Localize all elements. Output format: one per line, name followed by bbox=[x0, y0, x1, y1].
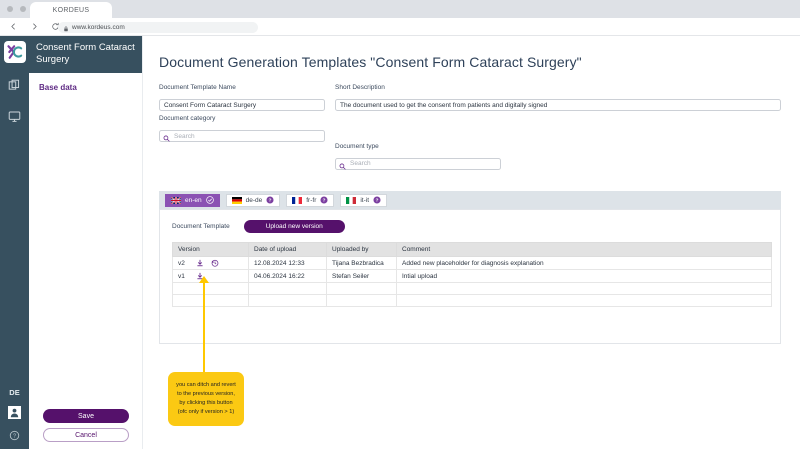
copy-icon[interactable] bbox=[6, 77, 23, 94]
cell-version bbox=[173, 295, 249, 307]
document-category-input[interactable] bbox=[159, 130, 325, 142]
forward-arrow-icon[interactable] bbox=[26, 19, 42, 35]
field-document-type: Document type bbox=[335, 143, 501, 171]
subnav-title: Consent Form Cataract Surgery bbox=[29, 36, 142, 73]
svg-text:?: ? bbox=[269, 198, 272, 204]
window-minimize-dot[interactable] bbox=[20, 6, 26, 12]
kordeus-logo[interactable] bbox=[4, 41, 26, 63]
cell-comment bbox=[397, 295, 772, 307]
tab-label-de-de: de-de bbox=[246, 197, 263, 204]
field-label-document-category: Document category bbox=[159, 115, 325, 122]
table-header-user: Uploaded by bbox=[327, 243, 397, 257]
question-circle-icon: ? bbox=[266, 196, 274, 204]
germany-flag bbox=[232, 197, 242, 204]
document-template-label: Document Template bbox=[172, 223, 230, 230]
annotation-line bbox=[203, 280, 205, 372]
document-type-input[interactable] bbox=[335, 158, 501, 170]
upload-new-version-button[interactable]: Upload new version bbox=[244, 220, 345, 233]
short-description-input[interactable] bbox=[335, 99, 781, 111]
browser-tab[interactable]: KORDEUS bbox=[30, 2, 112, 18]
table-header-date: Date of upload bbox=[249, 243, 327, 257]
annotation-callout: you can ditch and revert to the previous… bbox=[168, 372, 244, 426]
page-title: Document Generation Templates "Consent F… bbox=[159, 54, 781, 70]
browser-tab-label: KORDEUS bbox=[53, 7, 90, 14]
cell-user bbox=[327, 295, 397, 307]
field-label-document-type: Document type bbox=[335, 143, 501, 150]
help-icon[interactable]: ? bbox=[8, 429, 21, 442]
template-name-input[interactable] bbox=[159, 99, 325, 111]
search-icon bbox=[339, 157, 346, 164]
document-template-row: Document Template Upload new version bbox=[172, 220, 768, 233]
tab-label-fr-fr: fr-fr bbox=[306, 197, 316, 204]
language-tab-strip: en-en de-de ? fr-fr bbox=[159, 191, 781, 209]
table-header-row: Version Date of upload Uploaded by Comme… bbox=[173, 243, 772, 257]
field-label-template-name: Document Template Name bbox=[159, 84, 325, 91]
table-row[interactable]: v1 04.06.2024 16:22 Stefan Seiler Intial… bbox=[173, 270, 772, 283]
cell-user: Tijana Bezbradica bbox=[327, 257, 397, 270]
cell-comment: Intial upload bbox=[397, 270, 772, 283]
sidebar-item-base-data[interactable]: Base data bbox=[29, 73, 142, 92]
download-icon[interactable] bbox=[196, 259, 204, 267]
window-close-dot[interactable] bbox=[7, 6, 13, 12]
cell-date bbox=[249, 283, 327, 295]
annotation-line-4: (ofc only if version > 1) bbox=[178, 408, 234, 417]
tab-label-it-it: it-it bbox=[360, 197, 369, 204]
cell-date: 12.08.2024 12:33 bbox=[249, 257, 327, 270]
tab-en-en[interactable]: en-en bbox=[165, 194, 220, 207]
form-action-buttons: Save Cancel bbox=[29, 409, 143, 442]
tab-label-en-en: en-en bbox=[185, 197, 202, 204]
search-icon bbox=[163, 129, 170, 136]
cell-date: 04.06.2024 16:22 bbox=[249, 270, 327, 283]
tab-de-de[interactable]: de-de ? bbox=[226, 194, 281, 207]
uk-flag bbox=[171, 197, 181, 204]
document-template-panel: Document Template Upload new version Ver… bbox=[159, 209, 781, 344]
annotation-line-2: to the previous version, bbox=[177, 390, 235, 399]
cell-user: Stefan Seiler bbox=[327, 270, 397, 283]
question-circle-icon: ? bbox=[373, 196, 381, 204]
rail-language-label[interactable]: DE bbox=[9, 388, 19, 397]
save-button[interactable]: Save bbox=[43, 409, 129, 423]
revert-history-icon[interactable] bbox=[211, 259, 219, 267]
table-header-comment: Comment bbox=[397, 243, 772, 257]
field-label-short-description: Short Description bbox=[335, 84, 781, 91]
svg-text:?: ? bbox=[376, 198, 379, 204]
app-shell: DE ? Consent Form Cataract Surgery Base … bbox=[0, 36, 800, 449]
url-bar[interactable]: www.kordeus.com bbox=[58, 22, 258, 33]
version-label: v1 bbox=[178, 273, 189, 280]
question-circle-icon: ? bbox=[320, 196, 328, 204]
check-circle-icon bbox=[206, 196, 214, 204]
monitor-icon[interactable] bbox=[6, 108, 23, 125]
user-avatar-icon[interactable] bbox=[8, 406, 21, 419]
field-template-name: Document Template Name bbox=[159, 84, 325, 112]
cell-version bbox=[173, 283, 249, 295]
cell-comment bbox=[397, 283, 772, 295]
cancel-button[interactable]: Cancel bbox=[43, 428, 129, 442]
cell-version: v1 bbox=[173, 270, 249, 283]
rail-bottom-group: DE ? bbox=[0, 388, 29, 444]
table-row[interactable]: v2 12.08.2024 12:33 bbox=[173, 257, 772, 270]
back-arrow-icon[interactable] bbox=[5, 19, 21, 35]
field-document-category: Document category bbox=[159, 115, 325, 143]
italy-flag bbox=[346, 197, 356, 204]
cell-date bbox=[249, 295, 327, 307]
cell-user bbox=[327, 283, 397, 295]
cell-version: v2 bbox=[173, 257, 249, 270]
versions-table: Version Date of upload Uploaded by Comme… bbox=[172, 242, 772, 307]
lock-icon bbox=[63, 19, 69, 37]
tab-fr-fr[interactable]: fr-fr ? bbox=[286, 194, 334, 207]
left-icon-rail: DE ? bbox=[0, 36, 29, 449]
table-header-version: Version bbox=[173, 243, 249, 257]
france-flag bbox=[292, 197, 302, 204]
cell-comment: Added new placeholder for diagnosis expl… bbox=[397, 257, 772, 270]
version-label: v2 bbox=[178, 260, 189, 267]
form-grid: Document Template Name Short Description… bbox=[159, 84, 781, 139]
table-row[interactable] bbox=[173, 295, 772, 307]
annotation-line-1: you can ditch and revert bbox=[176, 381, 236, 390]
tab-it-it[interactable]: it-it ? bbox=[340, 194, 387, 207]
url-text: www.kordeus.com bbox=[72, 24, 125, 31]
field-short-description: Short Description bbox=[335, 84, 781, 112]
secondary-nav-panel: Consent Form Cataract Surgery Base data … bbox=[29, 36, 143, 449]
annotation-line-3: by clicking this button bbox=[179, 399, 232, 408]
browser-tab-bar: KORDEUS bbox=[0, 0, 800, 18]
svg-text:?: ? bbox=[323, 198, 326, 204]
table-row[interactable] bbox=[173, 283, 772, 295]
svg-text:?: ? bbox=[13, 434, 16, 440]
